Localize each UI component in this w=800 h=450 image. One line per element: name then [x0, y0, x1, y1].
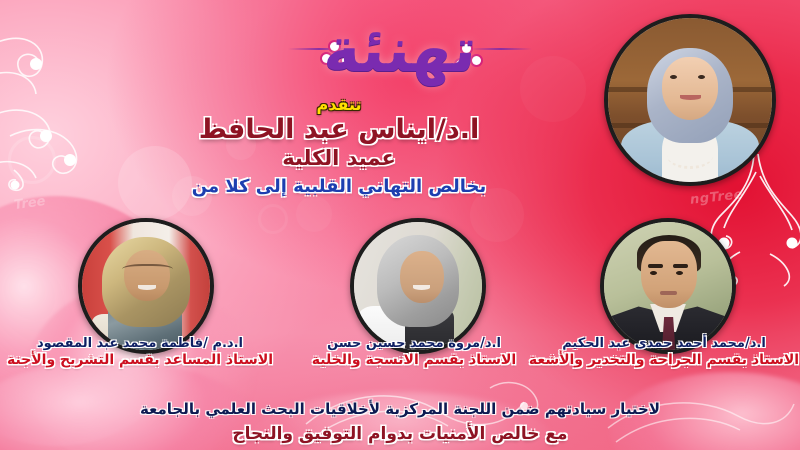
- honoree-caption-fatma: ا.د.م /فاطمة محمد عبد المقصود الاستاذ ال…: [4, 336, 276, 369]
- honoree-caption-mohamed: ا.د/محمد أحمد حمدى عبد الحكيم الاستاذ بق…: [528, 336, 800, 369]
- avatar-dean: [604, 14, 776, 186]
- watermark-left: Tree: [13, 194, 46, 213]
- presented-by-label: تتقدم: [86, 96, 592, 113]
- footer-wishes: مع خالص الأمنيات بدوام التوفيق والنجاح: [0, 424, 800, 444]
- honoree-name: ا.د.م /فاطمة محمد عبد المقصود: [4, 336, 276, 351]
- honoree-caption-marwa: ا.د/مروة محمد حسين حسن الاستاذ بقسم الان…: [278, 336, 550, 369]
- bokeh-ring: [8, 136, 56, 184]
- honoree-name: ا.د/مروة محمد حسين حسن: [278, 336, 550, 351]
- honoree-name: ا.د/محمد أحمد حمدى عبد الحكيم: [528, 336, 800, 351]
- congratulation-card: تهنئة تتقدم ا.د/ايناس عبد الحافظ عميد ال…: [0, 0, 800, 450]
- main-text-block: تتقدم ا.د/ايناس عبد الحافظ عميد الكلية ب…: [86, 96, 592, 197]
- dean-title: عميد الكلية: [86, 147, 592, 170]
- avatar-mohamed: [600, 218, 736, 354]
- watermark-right: ngTree: [689, 187, 743, 207]
- bokeh-circle: [296, 196, 332, 232]
- title-dash-right: [470, 48, 532, 50]
- honoree-role: الاستاذ المساعد بقسم التشريح والأجنة: [4, 352, 276, 369]
- footer-text-block: لاختيار سيادتهم ضمن اللجنة المركزية لأخل…: [0, 400, 800, 444]
- avatar-fatma: [78, 218, 214, 354]
- honoree-role: الاستاذ بقسم الجراحة والتخدير والأشعة: [528, 352, 800, 369]
- avatar-marwa: [350, 218, 486, 354]
- footer-reason: لاختيار سيادتهم ضمن اللجنة المركزية لأخل…: [0, 400, 800, 418]
- greeting-text: بخالص التهاني القلبية إلى كلا من: [86, 177, 592, 196]
- honoree-role: الاستاذ بقسم الانسجة والخلية: [278, 352, 550, 369]
- card-title: تهنئة: [322, 19, 479, 81]
- bokeh-ring: [258, 204, 288, 234]
- dean-name: ا.د/ايناس عبد الحافظ: [86, 115, 592, 144]
